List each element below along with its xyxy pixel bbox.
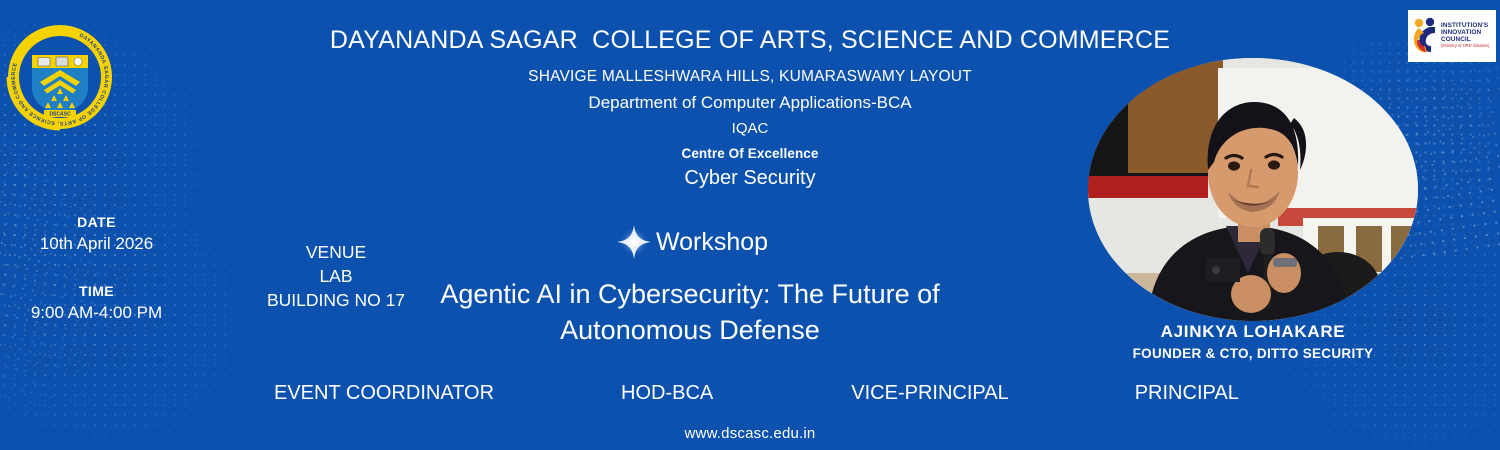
signatory-event-coordinator: EVENT COORDINATOR — [274, 382, 494, 405]
signatory-hod-bca: HOD-BCA — [621, 382, 713, 405]
venue-line-1: LAB — [243, 264, 429, 288]
sparkle-star-icon — [614, 222, 654, 262]
time-block: TIME 9:00 AM-4:00 PM — [13, 283, 180, 323]
time-value: 9:00 AM-4:00 PM — [13, 303, 180, 323]
venue-label: VENUE — [243, 240, 429, 264]
signatory-principal: PRINCIPAL — [1135, 382, 1239, 405]
time-label: TIME — [13, 283, 180, 299]
date-label: DATE — [13, 214, 180, 230]
website-url[interactable]: www.dscasc.edu.in — [0, 425, 1500, 442]
date-value: 10th April 2026 — [13, 234, 180, 254]
college-name: DAYANANDA SAGAR COLLEGE OF ARTS, SCIENCE… — [0, 26, 1500, 55]
signatory-vice-principal: VICE-PRINCIPAL — [851, 382, 1008, 405]
signatory-roles-row: EVENT COORDINATOR HOD-BCA VICE-PRINCIPAL… — [240, 382, 1325, 405]
speaker-portrait-photo — [1088, 58, 1418, 321]
venue-block: VENUE LAB BUILDING NO 17 — [243, 240, 429, 312]
event-type-label: Workshop — [656, 228, 768, 257]
date-block: DATE 10th April 2026 — [13, 214, 180, 254]
venue-line-2: BUILDING NO 17 — [243, 288, 429, 312]
speaker-name: AJINKYA LOHAKARE — [1088, 322, 1418, 342]
speaker-role: FOUNDER & CTO, DITTO SECURITY — [1078, 346, 1428, 361]
event-banner: . DAYANANDA SAGAR COLLEGE OF ARTS, SCIEN… — [0, 0, 1500, 450]
